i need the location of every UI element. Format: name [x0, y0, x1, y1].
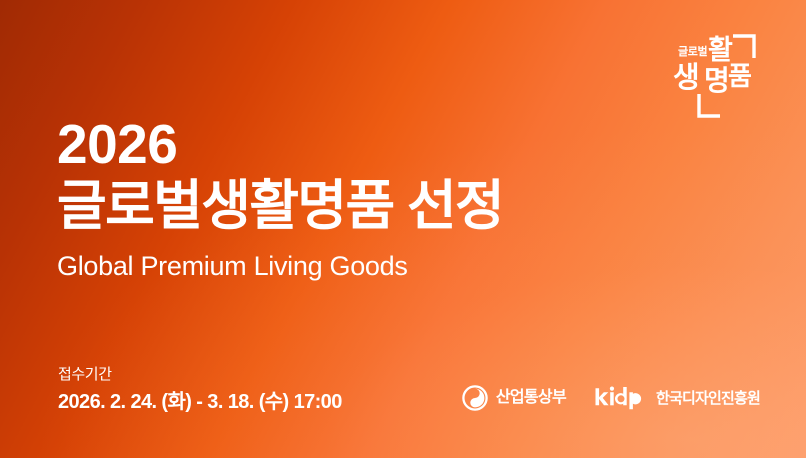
headline-block: 2026 글로벌생활명품 선정 Global Premium Living Go…	[57, 116, 503, 282]
poster-title-korean: 글로벌생활명품 선정	[57, 175, 503, 238]
organization-logos: 산업통상부 한국디자인진흥원	[462, 385, 760, 411]
application-period: 접수기간 2026. 2. 24. (화) - 3. 18. (수) 17:00	[58, 365, 342, 415]
brand-logo: 글로벌 활 생 명 품	[670, 28, 762, 124]
svg-text:글로벌: 글로벌	[678, 44, 707, 58]
kidp-wordmark-icon	[594, 386, 648, 410]
svg-text:품: 품	[728, 61, 752, 91]
promotional-poster: 글로벌 활 생 명 품 2026 글로벌생활명품 선정 Global Premi…	[0, 0, 806, 458]
svg-text:명: 명	[704, 65, 730, 96]
period-label: 접수기간	[58, 365, 342, 385]
poster-title-english: Global Premium Living Goods	[57, 250, 503, 282]
poster-year: 2026	[57, 116, 503, 172]
org-kidp-name: 한국디자인진흥원	[656, 391, 760, 406]
svg-text:생: 생	[673, 61, 700, 94]
org-motie: 산업통상부	[462, 385, 566, 411]
period-value: 2026. 2. 24. (화) - 3. 18. (수) 17:00	[58, 390, 342, 414]
org-motie-name: 산업통상부	[496, 390, 566, 406]
org-kidp: 한국디자인진흥원	[594, 386, 760, 410]
taegeuk-emblem-icon	[462, 385, 488, 411]
